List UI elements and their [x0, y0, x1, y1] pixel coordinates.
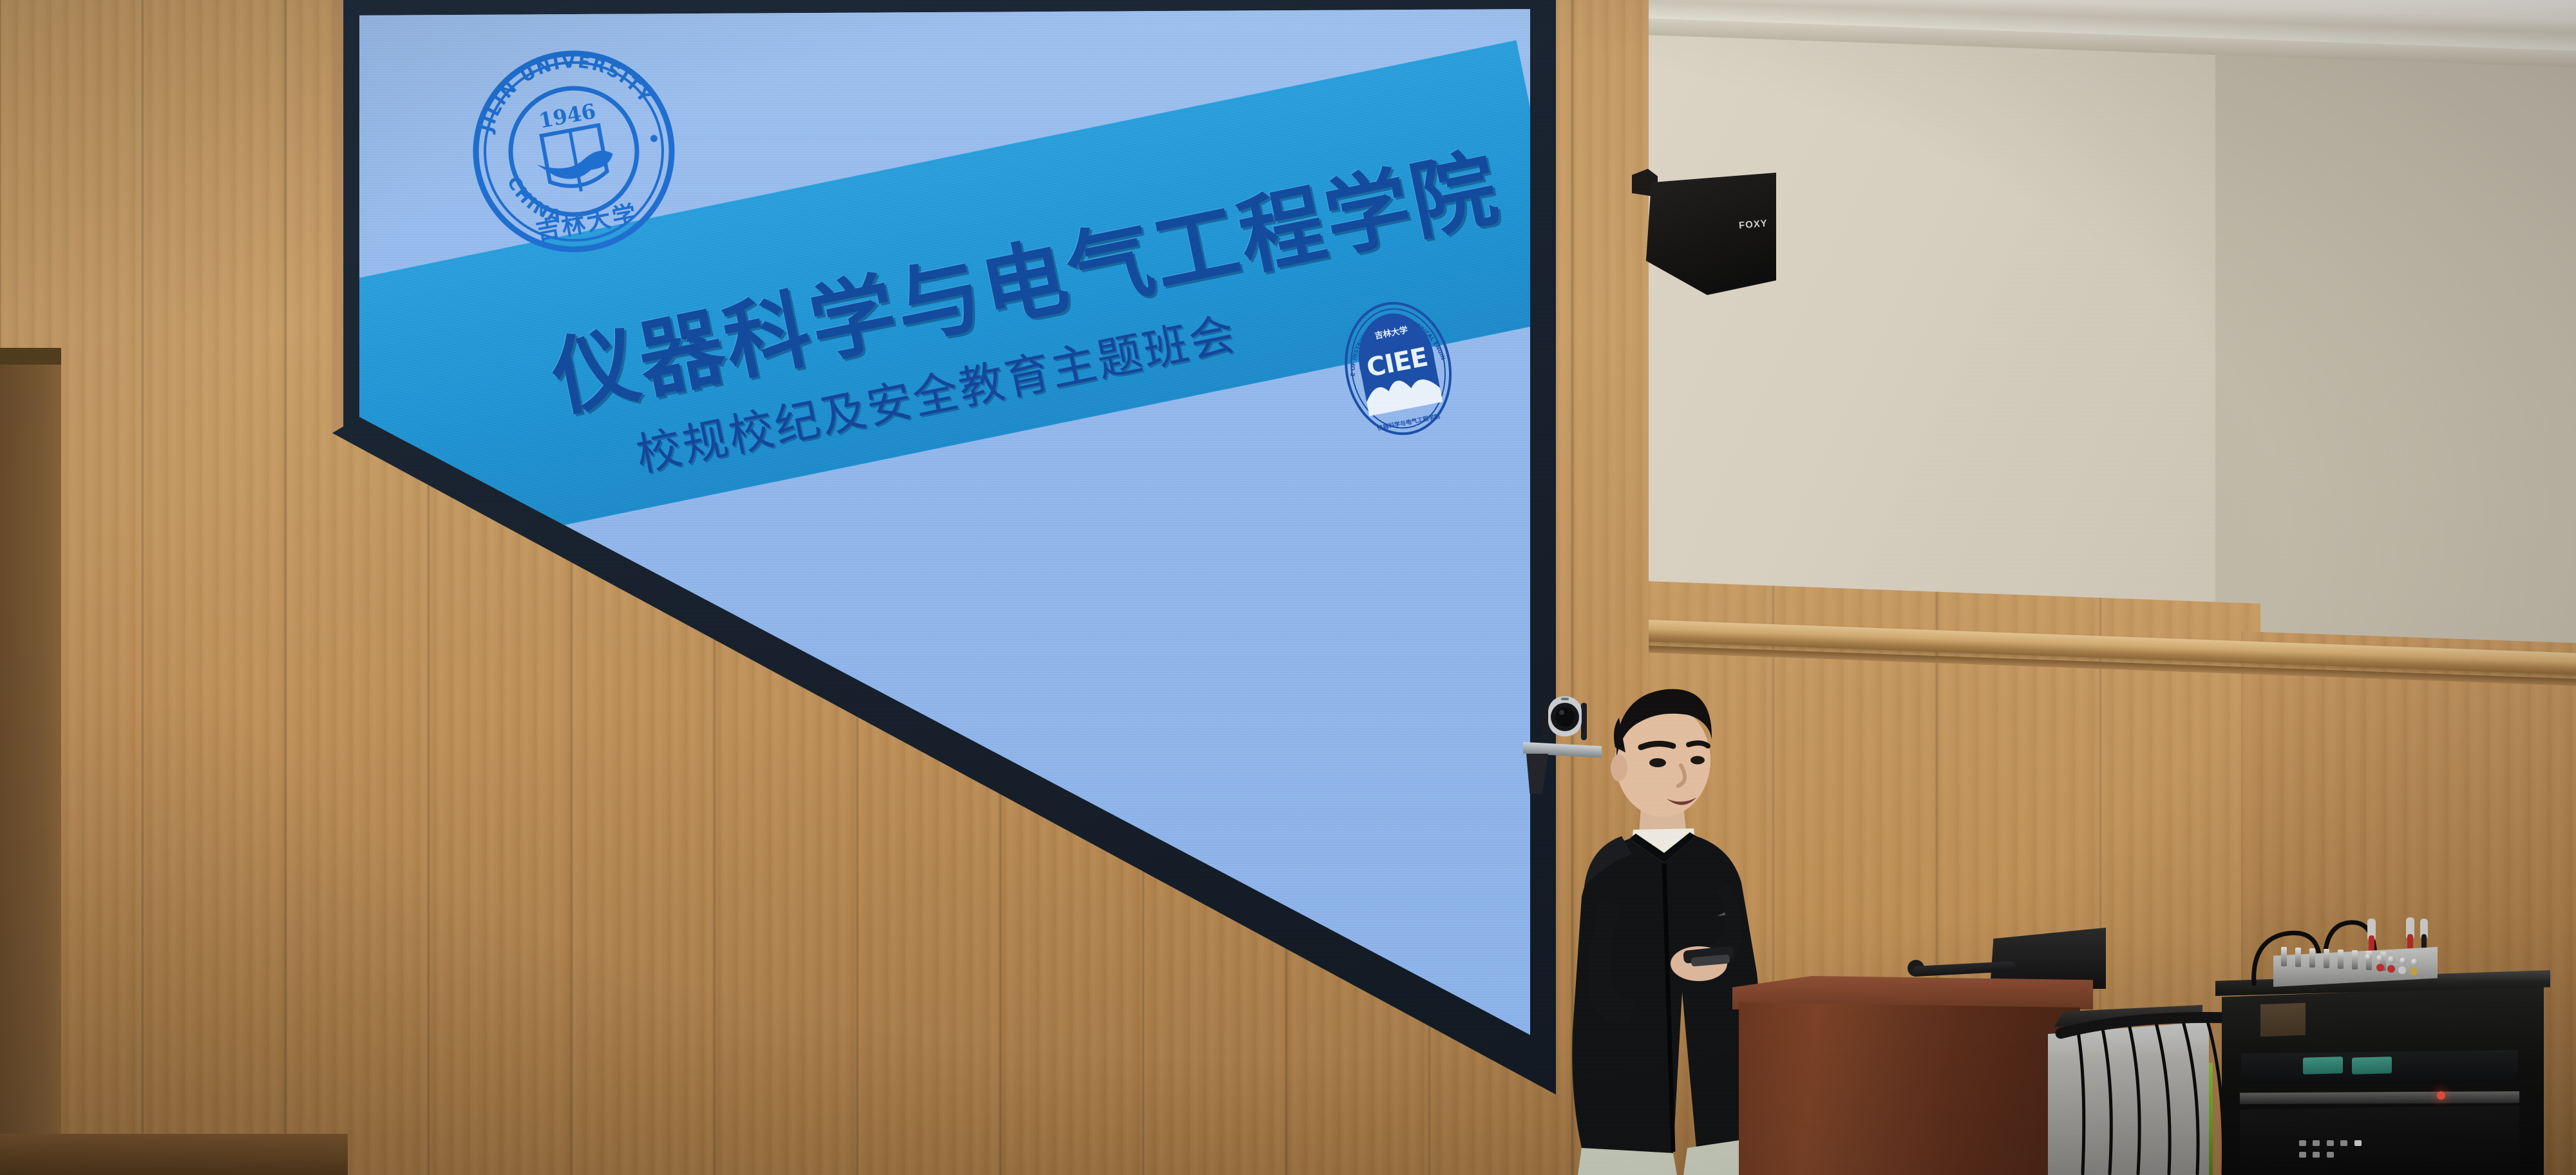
mixer-jack-white[interactable]	[2398, 966, 2406, 974]
mixer-fader[interactable]	[2281, 947, 2287, 966]
wall-recess-top	[0, 348, 61, 365]
mixer-fader[interactable]	[2338, 950, 2344, 969]
rack-glass-panel	[2260, 1003, 2306, 1036]
presenter-eye-left	[1649, 758, 1666, 767]
amplifier-faceplate	[2240, 1091, 2519, 1104]
processor-unit	[2240, 1105, 2519, 1175]
receiver-lcd-b	[2352, 1056, 2392, 1075]
mixer-jack-yellow[interactable]	[2410, 968, 2418, 975]
rack-button-row[interactable]	[2299, 1138, 2376, 1144]
chevron-right-icon	[381, 927, 409, 962]
rack-button[interactable]	[2327, 1152, 2334, 1158]
presenter-ear	[1611, 754, 1627, 781]
wall-recess	[0, 348, 61, 1175]
rack-button[interactable]	[2299, 1152, 2306, 1158]
rack-button[interactable]	[2299, 1140, 2306, 1146]
receiver-lcd-a	[2303, 1056, 2343, 1075]
recording-indicator-dot	[433, 964, 452, 983]
rack-button-active[interactable]	[2354, 1140, 2362, 1146]
power-led-indicator	[2437, 1091, 2445, 1100]
mixer-jack-red[interactable]	[2376, 964, 2384, 971]
presenter-brow-right	[1689, 743, 1708, 746]
rack-button[interactable]	[2313, 1152, 2320, 1158]
mixer-fader[interactable]	[2324, 949, 2329, 968]
podium-lectern	[1739, 1002, 2080, 1175]
rack-button[interactable]	[2327, 1140, 2334, 1146]
presenter-eye-right	[1690, 756, 1705, 765]
mixer-jack-row[interactable]	[2376, 961, 2441, 975]
floor-strip	[0, 1134, 348, 1175]
mixer-fader[interactable]	[2352, 950, 2358, 970]
mixer-jack-red[interactable]	[2387, 965, 2395, 973]
mixer-fader[interactable]	[2309, 948, 2315, 968]
slide-next-arrow-button[interactable]	[366, 916, 422, 972]
seal-separator-dot	[650, 135, 658, 143]
rack-button[interactable]	[2340, 1140, 2347, 1146]
jilin-university-seal: JILIN UNIVERSITY CHINA 1946 吉林大学	[450, 28, 698, 276]
cable-bundle	[2035, 1005, 2241, 1175]
lecture-hall-scene: JILIN UNIVERSITY CHINA 1946 吉林大学	[0, 0, 2576, 1175]
projection-screen[interactable]: JILIN UNIVERSITY CHINA 1946 吉林大学	[332, 0, 1556, 1099]
mixer-knob[interactable]	[2365, 953, 2372, 960]
rack-button[interactable]	[2313, 1140, 2320, 1146]
cable-tray	[2061, 1018, 2228, 1034]
seal-book-spine	[570, 131, 581, 191]
mixer-fader[interactable]	[2295, 948, 2301, 967]
wall-shadow	[2215, 0, 2576, 679]
